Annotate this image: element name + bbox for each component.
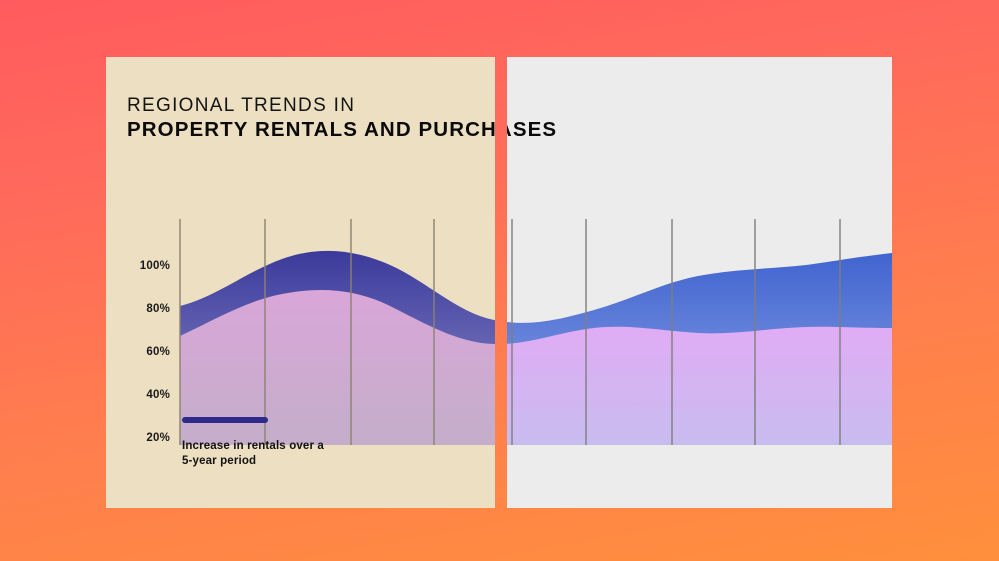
y-axis-tick-100: 100% bbox=[124, 260, 170, 272]
y-axis-tick-60: 60% bbox=[124, 346, 170, 358]
poster-canvas: REGIONAL TRENDS IN PROPERTY RENTALS AND … bbox=[0, 0, 999, 561]
y-axis-tick-20: 20% bbox=[124, 432, 170, 444]
y-axis-tick-40: 40% bbox=[124, 389, 170, 401]
y-axis-tick-80: 80% bbox=[124, 303, 170, 315]
right-panel-card: REGIONAL TRENDS IN PROPERTY RENTALS AND … bbox=[507, 57, 892, 508]
title-line-1: REGIONAL TRENDS IN bbox=[127, 95, 495, 117]
legend-label-line-1: Increase in rentals over a bbox=[182, 439, 324, 454]
title-line-2: PROPERTY RENTALS AND PURCHASES bbox=[127, 118, 495, 141]
left-panel-card: REGIONAL TRENDS IN PROPERTY RENTALS AND … bbox=[106, 57, 495, 508]
title-line-2-mirror: PROPERTY RENTALS AND PURCHASES bbox=[507, 118, 557, 141]
title-line-1-mirror: REGIONAL TRENDS IN bbox=[507, 95, 557, 117]
page-title-mirror: REGIONAL TRENDS IN PROPERTY RENTALS AND … bbox=[507, 95, 557, 141]
right-panel-content: REGIONAL TRENDS IN PROPERTY RENTALS AND … bbox=[507, 57, 892, 508]
left-panel-content: REGIONAL TRENDS IN PROPERTY RENTALS AND … bbox=[106, 57, 495, 508]
legend-label-line-2: 5-year period bbox=[182, 454, 324, 469]
area-chart-right: 100% 80% 60% 40% 20% bbox=[507, 197, 892, 457]
legend-left: Increase in rentals over a 5-year period bbox=[182, 417, 324, 469]
page-title: REGIONAL TRENDS IN PROPERTY RENTALS AND … bbox=[127, 95, 495, 141]
chart-plot-area-mirror bbox=[507, 197, 892, 457]
legend-swatch-rentals bbox=[182, 417, 268, 423]
